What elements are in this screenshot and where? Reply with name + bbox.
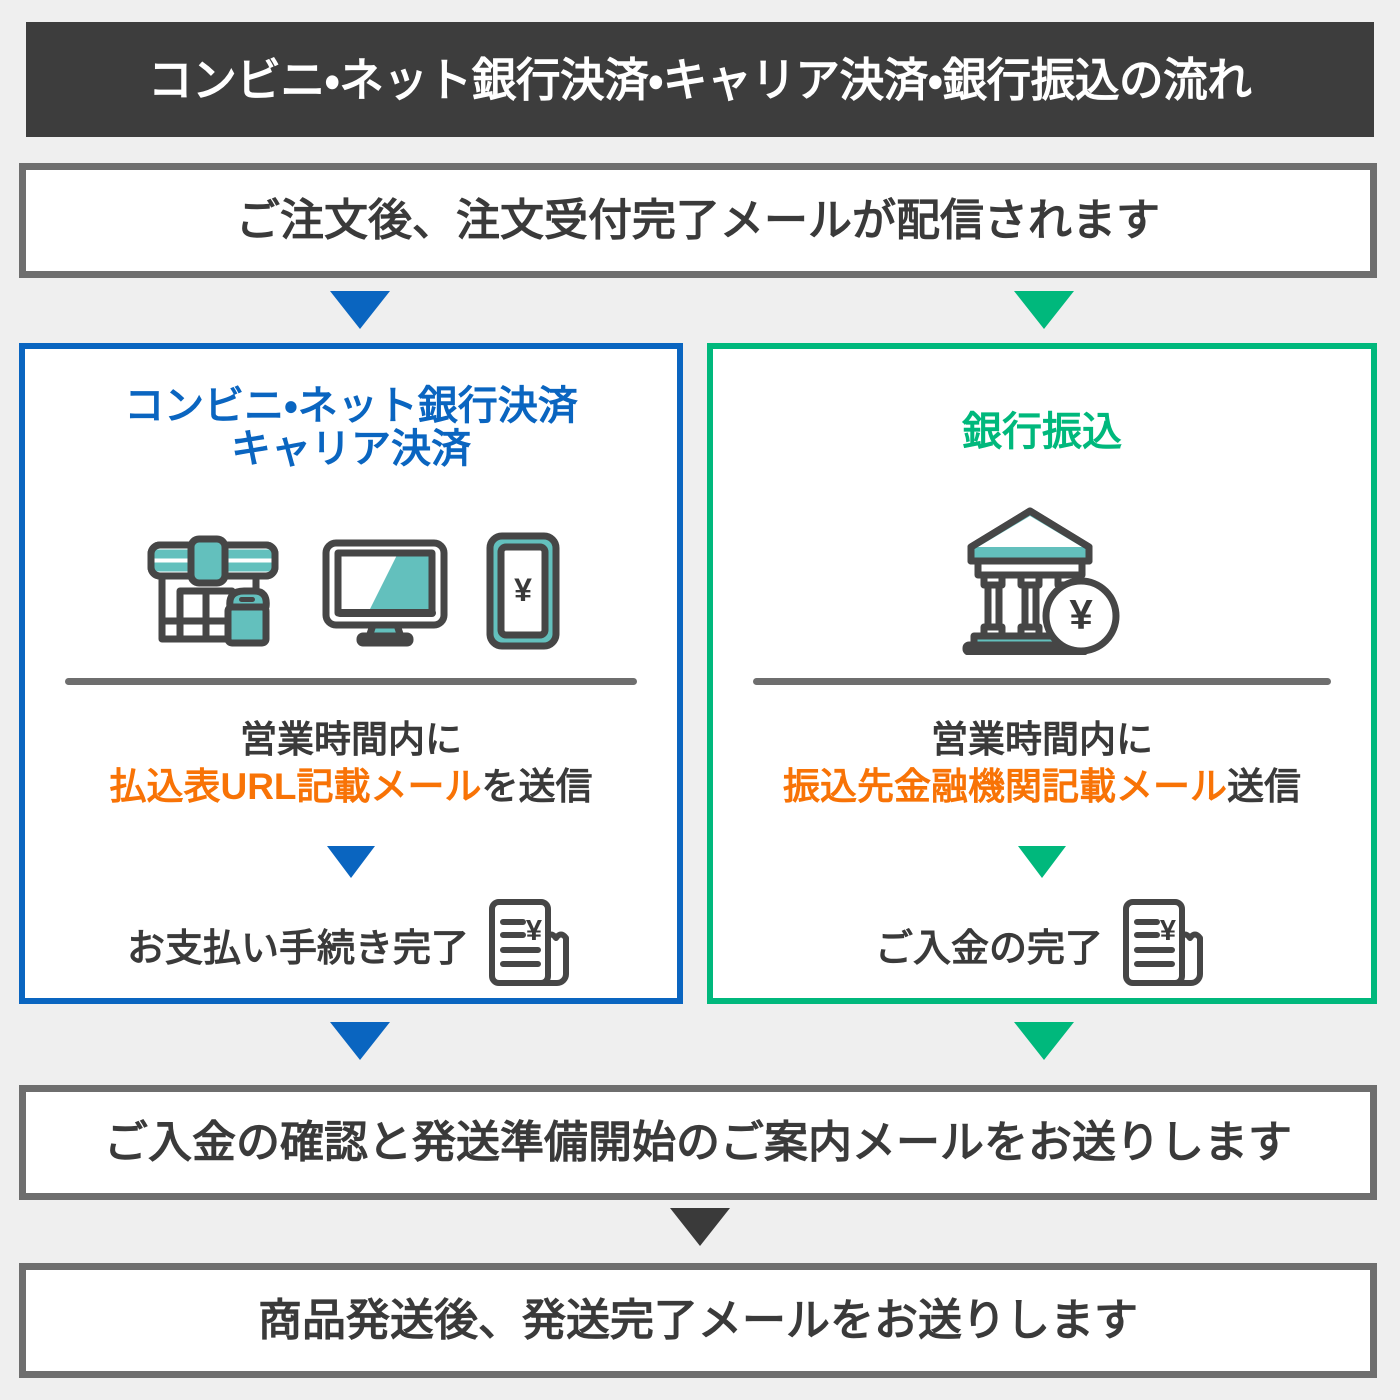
panel-bank-send-text: 営業時間内に 振込先金融機関記載メール送信 [713,716,1371,811]
step-payment-confirmed-label: ご入金の確認と発送準備開始のご案内メールをお送りします [104,1121,1292,1165]
panel-bank-send-tail: 送信 [1227,766,1301,807]
svg-text:¥: ¥ [1160,915,1176,947]
panel-bank-done-row: ご入金の完了 ¥ [713,889,1371,999]
step-order-received-label: ご注文後、注文受付完了メールが配信されます [236,199,1160,243]
arrow-bank-to-confirm-icon [1014,1022,1074,1060]
panel-cvs-done-label: お支払い手続き完了 [127,917,469,972]
arrow-to-bank-panel-icon [1014,291,1074,329]
diagram-title-bar: コンビニ・ネット銀行決済・キャリア決済・銀行振込の流れ [26,22,1374,137]
invoice-yen-icon: ¥ [1117,896,1209,992]
step-order-received-box: ご注文後、注文受付完了メールが配信されます [19,163,1377,278]
arrow-to-cvs-panel-icon [330,291,390,329]
panel-bank-done-label: ご入金の完了 [875,917,1103,972]
panel-convenience-store-payment: コンビニ・ネット銀行決済 キャリア決済 [19,343,683,1004]
invoice-yen-icon: ¥ [483,896,575,992]
panel-bank-send-line2: 振込先金融機関記載メール送信 [713,763,1371,810]
panel-cvs-send-highlight: 払込表URL記載メール [109,766,481,807]
convenience-store-icon [140,535,286,647]
arrow-cvs-internal-icon [327,846,375,878]
panel-cvs-send-line1: 営業時間内に [25,716,677,763]
panel-cvs-icon-row: ¥ [25,525,677,657]
panel-cvs-send-line2: 払込表URL記載メールを送信 [25,763,677,810]
panel-bank-icon-row: ¥ [713,499,1371,659]
panel-bank-send-line1: 営業時間内に [713,716,1371,763]
arrow-confirm-to-shipped-icon [670,1208,730,1246]
panel-cvs-send-text: 営業時間内に 払込表URL記載メールを送信 [25,716,677,811]
panel-cvs-divider [65,678,637,685]
smartphone-yen-icon: ¥ [484,531,562,651]
desktop-monitor-icon [320,535,450,647]
step-payment-confirmed-box: ご入金の確認と発送準備開始のご案内メールをお送りします [19,1085,1377,1200]
panel-bank-transfer: 銀行振込 [707,343,1377,1004]
step-shipped-box: 商品発送後、発送完了メールをお送りします [19,1263,1377,1378]
svg-text:¥: ¥ [514,572,532,608]
panel-cvs-done-row: お支払い手続き完了 ¥ [25,889,677,999]
panel-bank-title: 銀行振込 [713,411,1371,454]
svg-text:¥: ¥ [1069,591,1093,638]
step-shipped-label: 商品発送後、発送完了メールをお送りします [258,1299,1138,1343]
flow-diagram: コンビニ・ネット銀行決済・キャリア決済・銀行振込の流れ ご注文後、注文受付完了メ… [0,0,1400,1400]
panel-bank-send-highlight: 振込先金融機関記載メール [783,766,1227,807]
panel-cvs-send-tail: を送信 [482,766,593,807]
svg-text:¥: ¥ [526,915,542,947]
arrow-cvs-to-confirm-icon [330,1022,390,1060]
bank-building-yen-icon: ¥ [956,503,1128,655]
diagram-title: コンビニ・ネット銀行決済・キャリア決済・銀行振込の流れ [148,57,1251,103]
panel-cvs-title: コンビニ・ネット銀行決済 キャリア決済 [25,385,677,471]
panel-bank-divider [753,678,1331,685]
arrow-bank-internal-icon [1018,846,1066,878]
